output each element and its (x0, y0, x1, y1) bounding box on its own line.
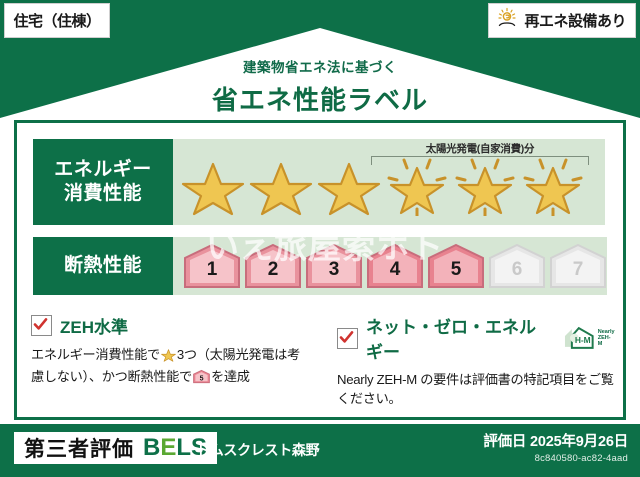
energy-stars-panel: 太陽光発電(自家消費)分 (173, 139, 605, 225)
sun-icon (495, 6, 519, 35)
evaluation-id: 8c840580-ac82-4aad (483, 453, 628, 464)
zeh-standard-note: ZEH水準 エネルギー消費性能で 3つ（太陽光発電は考慮しない）、かつ断熱性能で… (17, 313, 323, 408)
zeh-m-caption-line2: ZEH-M (598, 335, 615, 348)
label-title-block: 建築物省エネ法に基づく 省エネ性能ラベル (0, 56, 640, 117)
zeh-standard-heading: ZEH水準 (31, 313, 309, 338)
insulation-level-house-inactive: 7 (549, 243, 607, 289)
insulation-scale-panel: 1 2 3 (173, 237, 607, 295)
star-icon (249, 154, 313, 216)
star-solar-icon (453, 154, 517, 216)
label-subtitle: 建築物省エネ法に基づく (0, 56, 640, 76)
star-icon (181, 154, 245, 216)
insulation-level-number: 2 (244, 259, 302, 281)
renewable-badge-label: 再エネ設備あり (524, 10, 626, 31)
zeh-m-caption-line1: Nearly (598, 329, 615, 335)
star-icon (317, 154, 381, 216)
insulation-level-house-inactive: 6 (488, 243, 546, 289)
zeh-standard-body: エネルギー消費性能で 3つ（太陽光発電は考慮しない）、かつ断熱性能で 5 を達成 (31, 345, 309, 389)
insulation-level-number: 4 (366, 259, 424, 281)
net-zero-energy-note: ネット・ゼロ・エネルギー H-M Nearly ZEH-M (323, 313, 629, 408)
insulation-level-house: 3 (305, 243, 363, 289)
notes-section: ZEH水準 エネルギー消費性能で 3つ（太陽光発電は考慮しない）、かつ断熱性能で… (17, 313, 629, 408)
zeh-m-logo-caption: Nearly ZEH-M (598, 329, 615, 348)
third-party-evaluation-label: 第三者評価 (24, 433, 134, 463)
zeh-body-part1: エネルギー消費性能で (31, 347, 160, 362)
bels-letter-e: E (160, 434, 176, 461)
house-5-icon: 5 (193, 369, 210, 389)
zeh-body-part3: を達成 (211, 369, 250, 384)
energy-label-line2: 消費性能 (64, 182, 142, 206)
insulation-level-house: 2 (244, 243, 302, 289)
checkbox-checked-icon (337, 328, 358, 349)
evaluation-date: 評価日 2025年9月26日 (483, 430, 628, 451)
insulation-level-number: 3 (305, 259, 363, 281)
energy-performance-row: エネルギー 消費性能 太陽光発電(自家消費)分 (33, 139, 605, 225)
star-solar-icon (521, 154, 585, 216)
label-main-title: 省エネ性能ラベル (0, 80, 640, 117)
energy-performance-label: エネルギー 消費性能 (33, 139, 173, 225)
insulation-level-number: 1 (183, 259, 241, 281)
insulation-performance-label: 断熱性能 (33, 237, 173, 295)
evaluation-info: 評価日 2025年9月26日 8c840580-ac82-4aad (483, 430, 628, 464)
energy-label-root: 住宅（住棟） 再エネ設備あり 建築物省エネ法に基づく (0, 0, 640, 477)
insulation-performance-row: 断熱性能 1 (33, 237, 607, 295)
net-zero-energy-title: ネット・ゼロ・エネルギー (366, 313, 552, 363)
insulation-level-number: 5 (427, 259, 485, 281)
building-name: ドムスクレスト森野 (196, 440, 319, 460)
zeh-standard-title: ZEH水準 (60, 313, 128, 338)
svg-text:5: 5 (200, 375, 204, 382)
insulation-level-house: 1 (183, 243, 241, 289)
energy-label-line1: エネルギー (54, 158, 152, 182)
insulation-level-number: 6 (488, 259, 546, 281)
insulation-label-text: 断熱性能 (64, 254, 142, 278)
zeh-m-logo: H-M Nearly ZEH-M (562, 325, 615, 351)
insulation-levels: 1 2 3 (183, 243, 607, 289)
net-zero-energy-body: Nearly ZEH-M の要件は評価書の特記項目をご覧ください。 (337, 370, 615, 408)
renewable-equipment-badge: 再エネ設備あり (488, 3, 636, 38)
insulation-level-number: 7 (549, 259, 607, 281)
footer-bar: 第三者評価 BELS ドムスクレスト森野 評価日 2025年9月26日 8c84… (0, 424, 640, 477)
star-solar-icon (385, 154, 449, 216)
insulation-level-house: 4 (366, 243, 424, 289)
checkbox-checked-icon (31, 315, 52, 336)
housing-type-tag: 住宅（住棟） (4, 3, 110, 38)
zeh-m-house-icon: H-M (562, 325, 596, 351)
bels-letter-b: B (143, 434, 160, 461)
bels-certification-box: 第三者評価 BELS (14, 432, 217, 464)
star-icon (161, 347, 176, 367)
insulation-level-house: 5 (427, 243, 485, 289)
net-zero-energy-heading: ネット・ゼロ・エネルギー H-M Nearly ZEH-M (337, 313, 615, 363)
svg-text:H-M: H-M (575, 335, 591, 345)
rating-card: エネルギー 消費性能 太陽光発電(自家消費)分 (14, 120, 626, 420)
housing-type-label: 住宅（住棟） (13, 10, 100, 31)
